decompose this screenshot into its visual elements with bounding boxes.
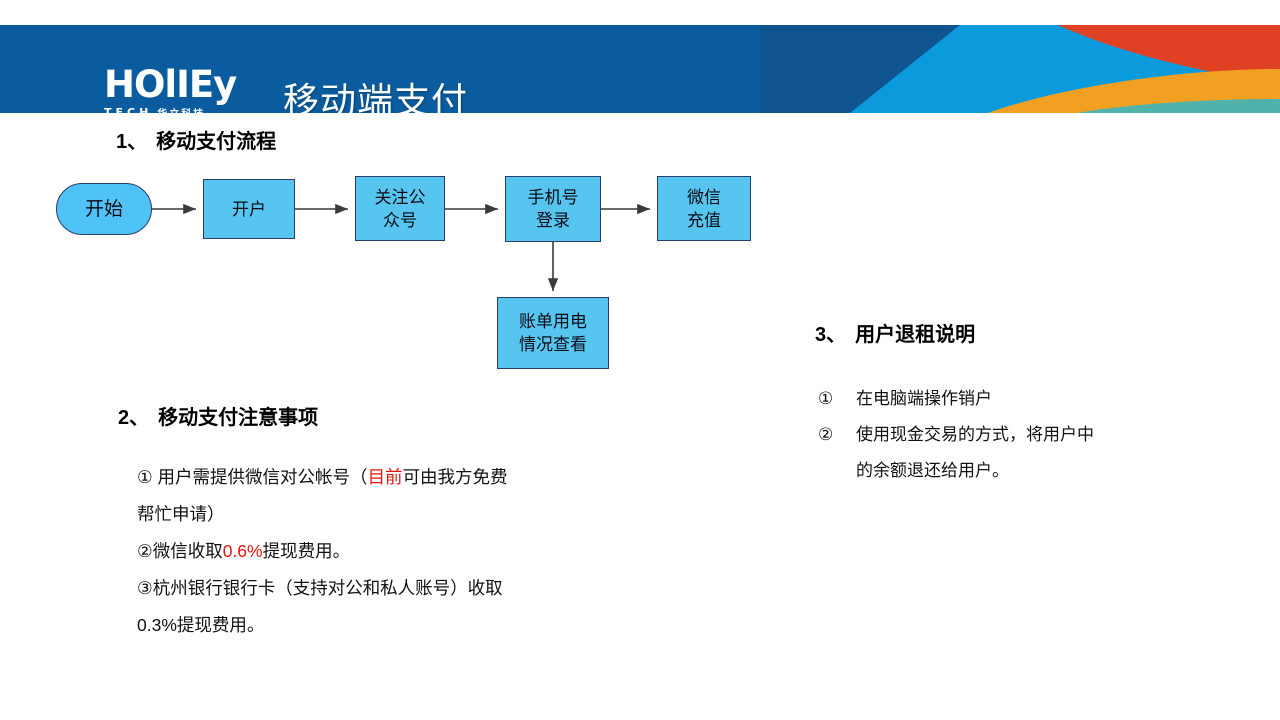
refund-note-2-marker: ② [818,417,856,453]
page-header: HOlIEy TECH 华立科技 移动端支付 [0,25,1280,113]
flow-node-open-account-label: 开户 [232,198,266,221]
refund-note-2-line-1: ②使用现金交易的方式，将用户中 [818,417,1094,453]
payment-note-1-line-2: 帮忙申请） [137,496,225,533]
section-1-heading: 1、移动支付流程 [116,125,276,154]
payment-note-2: ②微信收取0.6%提现费用。 [137,533,350,570]
refund-note-1: ①在电脑端操作销户 [818,381,992,417]
flow-node-follow-line2: 众号 [375,209,426,232]
header-decorative-swoosh [760,25,1280,113]
section-2-number: 2、 [118,407,149,429]
refund-note-1-marker: ① [818,381,856,417]
section-2-title: 移动支付注意事项 [158,407,318,429]
flow-node-bill-line2: 情况查看 [519,333,587,356]
flow-node-wechat-topup[interactable]: 微信 充值 [657,176,751,241]
refund-note-1-text: 在电脑端操作销户 [856,389,992,408]
flow-node-phone-login[interactable]: 手机号 登录 [505,176,601,242]
payment-note-3-line-2: 0.3%提现费用。 [137,607,264,644]
payment-note-3-line-1: ③杭州银行银行卡（支持对公和私人账号）收取 [137,570,503,607]
section-3-number: 3、 [815,324,846,346]
flow-node-start-label: 开始 [85,198,123,221]
payment-note-1-text-a: ① 用户需提供微信对公帐号（ [137,467,368,487]
logo-wordmark: HOlIEy [104,66,256,104]
page-title: 移动端支付 [283,72,468,113]
refund-note-2-line-2: 的余额退还给用户。 [856,453,1009,489]
flow-node-open-account[interactable]: 开户 [203,179,295,239]
section-3-title: 用户退租说明 [855,324,975,346]
section-3-heading: 3、用户退租说明 [815,318,975,347]
payment-note-1-text-b: 可由我方免费 [403,467,508,487]
flow-node-topup-line1: 微信 [687,186,721,209]
logo-chinese-text: 华立科技 [157,105,205,113]
flow-node-bill-line1: 账单用电 [519,310,587,333]
flow-node-bill-usage-view[interactable]: 账单用电 情况查看 [497,297,609,369]
payment-note-2-text-b: 提现费用。 [263,541,351,561]
flow-node-login-line2: 登录 [528,209,579,232]
flow-node-follow-line1: 关注公 [375,186,426,209]
section-1-title: 移动支付流程 [156,131,276,153]
flow-node-start[interactable]: 开始 [56,183,152,235]
flow-node-login-line1: 手机号 [528,186,579,209]
payment-note-1-highlight: 目前 [368,467,403,487]
payment-note-1-line-1: ① 用户需提供微信对公帐号（目前可由我方免费 [137,459,508,496]
section-2-heading: 2、移动支付注意事项 [118,401,318,430]
payment-note-2-text-a: ②微信收取 [137,541,223,561]
holley-logo: HOlIEy TECH 华立科技 [104,66,256,113]
payment-note-2-highlight: 0.6% [223,541,263,561]
section-1-number: 1、 [116,131,147,153]
logo-tech-text: TECH [104,106,152,113]
flow-node-follow-official-account[interactable]: 关注公 众号 [355,176,445,241]
flow-node-topup-line2: 充值 [687,209,721,232]
refund-note-2-text: 使用现金交易的方式，将用户中 [856,425,1094,444]
logo-subtitle: TECH 华立科技 [104,105,256,113]
